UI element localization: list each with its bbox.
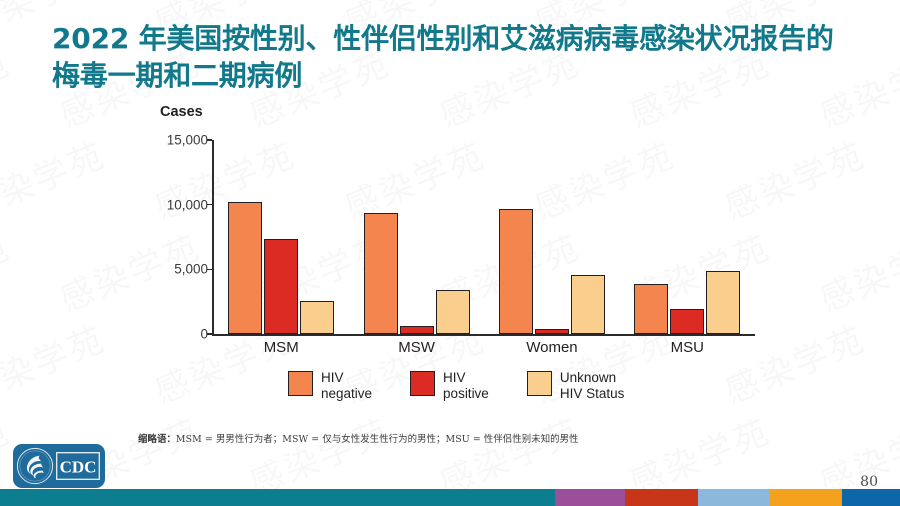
legend-label: Unknown HIV Status xyxy=(560,370,625,402)
svg-text:CDC: CDC xyxy=(60,458,97,477)
footnote: 缩略语：MSM = 男男性行为者；MSW = 仅与女性发生性行为的男性；MSU … xyxy=(138,431,579,445)
bar xyxy=(706,271,740,334)
bar xyxy=(400,326,434,334)
legend-label: HIV positive xyxy=(443,370,489,402)
bottom-color-bar xyxy=(0,489,900,506)
y-axis-line xyxy=(212,140,214,334)
cdc-logo: CDC xyxy=(13,444,105,488)
page-title: 2022 年美国按性别、性伴侣性别和艾滋病病毒感染状况报告的梅毒一期和二期病例 xyxy=(52,20,852,94)
bar xyxy=(300,301,334,334)
bar xyxy=(634,284,668,334)
x-axis-line xyxy=(212,334,755,336)
chart-legend: HIV negativeHIV positiveUnknown HIV Stat… xyxy=(288,370,624,402)
page-number: 80 xyxy=(860,474,878,490)
bottom-bar-segment xyxy=(555,489,625,506)
x-axis-group-label: MSM xyxy=(264,339,299,356)
bar xyxy=(436,290,470,334)
slide-canvas: 感染学苑感染学苑感染学苑感染学苑感染学苑感染学苑感染学苑感染学苑感染学苑感染学苑… xyxy=(0,0,900,506)
bar xyxy=(499,209,533,334)
bar xyxy=(571,275,605,334)
y-axis-tick-label: 15,000 xyxy=(167,133,208,148)
legend-item: HIV positive xyxy=(410,370,489,402)
x-axis-group-label: Women xyxy=(526,339,577,356)
bar xyxy=(364,213,398,334)
footnote-prefix: 缩略语： xyxy=(138,434,176,445)
bar xyxy=(228,202,262,334)
legend-swatch xyxy=(288,371,313,396)
bar xyxy=(264,239,298,334)
bottom-bar-segment xyxy=(625,489,698,506)
bottom-bar-segment xyxy=(698,489,770,506)
footnote-body: MSM = 男男性行为者；MSW = 仅与女性发生性行为的男性；MSU = 性伴… xyxy=(176,434,579,445)
bottom-bar-segment xyxy=(842,489,900,506)
hhs-seal-icon xyxy=(15,446,55,486)
y-axis-tick-label: 10,000 xyxy=(167,197,208,212)
y-axis-tick-mark xyxy=(207,204,212,206)
legend-swatch xyxy=(410,371,435,396)
bar xyxy=(535,329,569,334)
y-axis-tick-mark xyxy=(207,269,212,271)
legend-swatch xyxy=(527,371,552,396)
legend-item: HIV negative xyxy=(288,370,372,402)
x-axis-group-label: MSU xyxy=(671,339,704,356)
y-axis-tick-mark xyxy=(207,333,212,335)
legend-label: HIV negative xyxy=(321,370,372,402)
y-axis-tick-mark xyxy=(207,139,212,141)
bottom-bar-segment xyxy=(770,489,842,506)
legend-item: Unknown HIV Status xyxy=(527,370,625,402)
cdc-wordmark: CDC xyxy=(56,452,100,480)
y-axis-tick-label: 5,000 xyxy=(174,262,208,277)
x-axis-group-label: MSW xyxy=(398,339,435,356)
bottom-bar-segment xyxy=(0,489,555,506)
bar xyxy=(670,309,704,334)
